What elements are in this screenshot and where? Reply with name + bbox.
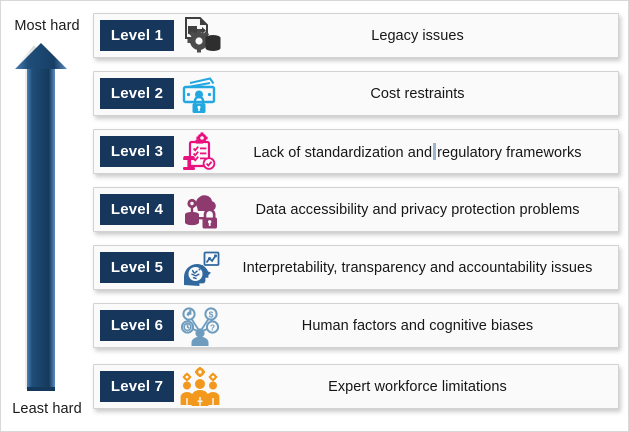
level-badge-4: Level 4 (100, 194, 174, 225)
level-rows: Level 1 (93, 7, 623, 431)
difficulty-axis: Most hard (1, 1, 93, 432)
diagram-canvas: Most hard (0, 0, 629, 432)
text-cursor (433, 143, 436, 160)
level-badge-5: Level 5 (100, 252, 174, 283)
axis-label-least-hard: Least hard (1, 401, 93, 417)
level-text-5: Interpretability, transparency and accou… (225, 260, 618, 276)
banknote-lock-icon (175, 72, 225, 115)
level-text-3-before: Lack of standardization and (253, 145, 432, 161)
svg-text:?: ? (210, 322, 215, 332)
cloud-database-lock-icon (175, 188, 225, 231)
level-row-7[interactable]: Level 7 (93, 364, 619, 409)
head-brain-chart-icon (175, 246, 225, 289)
document-gear-database-icon (175, 14, 225, 57)
level-badge-7: Level 7 (100, 371, 174, 402)
level-badge-3: Level 3 (100, 136, 174, 167)
level-badge-2: Level 2 (100, 78, 174, 109)
level-badge-6: Level 6 (100, 310, 174, 341)
level-row-3[interactable]: Level 3 (93, 129, 619, 174)
level-text-3: Lack of standardization andregulatory fr… (225, 143, 618, 161)
person-decision-network-icon: $ ? (175, 304, 225, 347)
level-text-7: Expert workforce limitations (225, 379, 618, 395)
level-text-3-after: regulatory frameworks (437, 145, 582, 161)
svg-text:$: $ (209, 309, 214, 319)
team-gears-icon (175, 365, 225, 408)
clipboard-checklist-stamp-icon (175, 130, 225, 173)
up-arrow-icon (13, 37, 85, 405)
level-text-4: Data accessibility and privacy protectio… (225, 202, 618, 218)
axis-label-most-hard: Most hard (1, 18, 93, 34)
level-row-1[interactable]: Level 1 (93, 13, 619, 58)
level-text-1: Legacy issues (225, 28, 618, 44)
level-badge-1: Level 1 (100, 20, 174, 51)
level-row-6[interactable]: Level 6 (93, 303, 619, 348)
level-text-6: Human factors and cognitive biases (225, 318, 618, 334)
level-row-2[interactable]: Level 2 (93, 71, 619, 116)
level-text-2: Cost restraints (225, 86, 618, 102)
level-row-5[interactable]: Level 5 (93, 245, 619, 290)
level-row-4[interactable]: Level 4 (93, 187, 619, 232)
